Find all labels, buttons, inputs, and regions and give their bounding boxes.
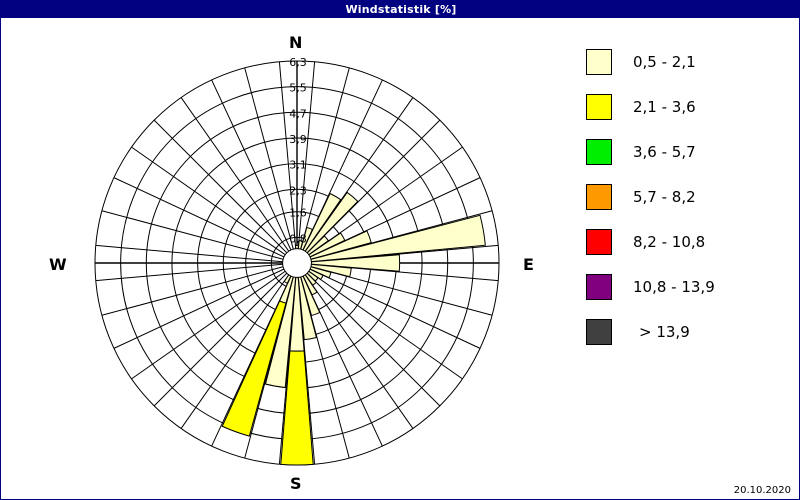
legend-item-label: > 13,9 bbox=[639, 323, 690, 341]
grid-spoke bbox=[154, 120, 297, 263]
grid-spoke bbox=[132, 147, 297, 263]
grid-spoke bbox=[297, 263, 462, 379]
legend-item-label: 0,5 - 2,1 bbox=[633, 53, 696, 71]
legend-color-swatch bbox=[586, 49, 612, 75]
radial-tick-label: 0,8 bbox=[289, 232, 307, 245]
grid-spoke bbox=[96, 245, 297, 263]
legend-color-swatch bbox=[586, 94, 612, 120]
radial-tick-label: 3,9 bbox=[289, 133, 307, 146]
compass-label-west: W bbox=[49, 255, 67, 274]
radial-tick-label: 2,3 bbox=[289, 184, 307, 197]
legend-color-swatch bbox=[586, 319, 612, 345]
legend-item-label: 10,8 - 13,9 bbox=[633, 278, 715, 296]
legend-item-label: 2,1 - 3,6 bbox=[633, 98, 696, 116]
legend-item[interactable]: 5,7 - 8,2 bbox=[586, 174, 796, 219]
windrose-window: Windstatistik [%] 0,81,62,33,13,94,75,56… bbox=[0, 0, 800, 500]
window-title: Windstatistik [%] bbox=[345, 3, 456, 16]
radial-tick-label: 6,3 bbox=[289, 56, 307, 69]
date-stamp: 20.10.2020 bbox=[734, 485, 791, 496]
legend-item-label: 8,2 - 10,8 bbox=[633, 233, 705, 251]
legend-color-swatch bbox=[586, 229, 612, 255]
legend: 0,5 - 2,12,1 - 3,63,6 - 5,75,7 - 8,28,2 … bbox=[586, 39, 796, 354]
grid-spoke bbox=[297, 263, 440, 406]
legend-color-swatch bbox=[586, 274, 612, 300]
legend-item[interactable]: 0,5 - 2,1 bbox=[586, 39, 796, 84]
legend-item[interactable]: 3,6 - 5,7 bbox=[586, 129, 796, 174]
legend-item[interactable]: > 13,9 bbox=[586, 309, 796, 354]
grid-spoke bbox=[181, 98, 297, 263]
grid-spoke bbox=[102, 211, 297, 263]
grid-spoke bbox=[102, 263, 297, 315]
legend-color-swatch bbox=[586, 139, 612, 165]
legend-item[interactable]: 2,1 - 3,6 bbox=[586, 84, 796, 129]
grid-spoke bbox=[96, 263, 297, 281]
grid-spoke bbox=[114, 178, 297, 263]
radial-tick-label: 1,6 bbox=[289, 207, 307, 220]
legend-color-swatch bbox=[586, 184, 612, 210]
window-title-bar: Windstatistik [%] bbox=[1, 1, 800, 18]
compass-label-south: S bbox=[290, 474, 302, 493]
grid-spoke bbox=[212, 80, 297, 263]
legend-item[interactable]: 8,2 - 10,8 bbox=[586, 219, 796, 264]
windrose-plot: 0,81,62,33,13,94,75,56,3 bbox=[1, 18, 561, 500]
legend-item-label: 5,7 - 8,2 bbox=[633, 188, 696, 206]
radial-tick-label: 3,1 bbox=[289, 159, 307, 172]
radial-tick-label: 4,7 bbox=[289, 107, 307, 120]
windrose-chart-area: 0,81,62,33,13,94,75,56,3 N S W E bbox=[1, 18, 561, 500]
legend-item-label: 3,6 - 5,7 bbox=[633, 143, 696, 161]
compass-label-east: E bbox=[523, 255, 534, 274]
radial-tick-label: 5,5 bbox=[289, 82, 307, 95]
compass-label-north: N bbox=[289, 33, 302, 52]
legend-item[interactable]: 10,8 - 13,9 bbox=[586, 264, 796, 309]
calm-center-circle bbox=[283, 249, 312, 278]
